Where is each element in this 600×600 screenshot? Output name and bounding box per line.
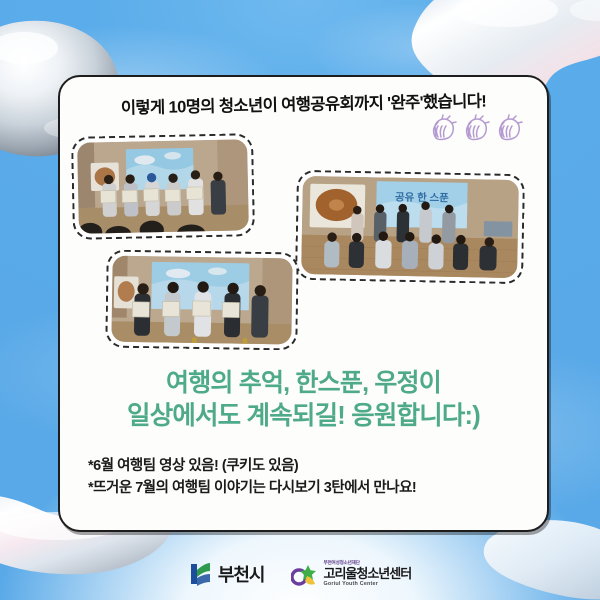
clapping-hands-icon — [429, 113, 459, 143]
clapping-hands-icon — [495, 113, 525, 143]
goriul-mark-icon — [291, 562, 318, 587]
goriul-foundation-label: 부천여성청소년재단 — [324, 561, 412, 566]
logo-goriul-youth-center: 부천여성청소년재단 고리울청소년센터 Goriul Youth Center — [291, 561, 412, 588]
photo-certificate-ceremony-2 — [105, 249, 299, 350]
poster-canvas: 이렇게 10명의 청소년이 여행공유회까지 '완주'했습니다! — [0, 0, 600, 600]
photo-2-scene: 공유 한 스푼 — [301, 176, 519, 278]
content-card: 이렇게 10명의 청소년이 여행공유회까지 '완주'했습니다! — [58, 75, 549, 532]
photo-1-scene — [77, 139, 249, 234]
bucheon-mark-icon — [189, 561, 212, 587]
bucheon-city-label: 부천시 — [218, 561, 265, 587]
message-line-2: 일상에서도 계속되길! 응원합니다:) — [60, 400, 547, 434]
main-message: 여행의 추억, 한스푼, 우정이 일상에서도 계속되길! 응원합니다:) — [60, 367, 547, 434]
goriul-center-label: 고리울청소년센터 — [324, 567, 412, 580]
footnote-item: *뜨거운 7월의 여행팀 이야기는 다시보기 3탄에서 만나요! — [88, 477, 416, 499]
photo-3-scene — [111, 256, 292, 345]
footnote-item: *6월 여행팀 영상 있음! (쿠키도 있음) — [88, 455, 416, 477]
footer-logos: 부천시 부천여성청소년재단 고리울청소년센터 Goriul Youth Cent… — [0, 552, 600, 596]
footnote-list: *6월 여행팀 영상 있음! (쿠키도 있음) *뜨거운 7월의 여행팀 이야기… — [88, 455, 416, 499]
clapping-hands-group — [429, 113, 525, 143]
message-line-1: 여행의 추억, 한스푼, 우정이 — [166, 369, 441, 397]
goriul-english-label: Goriul Youth Center — [324, 582, 412, 587]
logo-bucheon-city: 부천시 — [189, 561, 265, 587]
photo-certificate-ceremony-1 — [71, 133, 255, 240]
clapping-hands-icon — [462, 113, 492, 143]
photo-travel-sharing-group: 공유 한 스푼 — [295, 170, 525, 284]
